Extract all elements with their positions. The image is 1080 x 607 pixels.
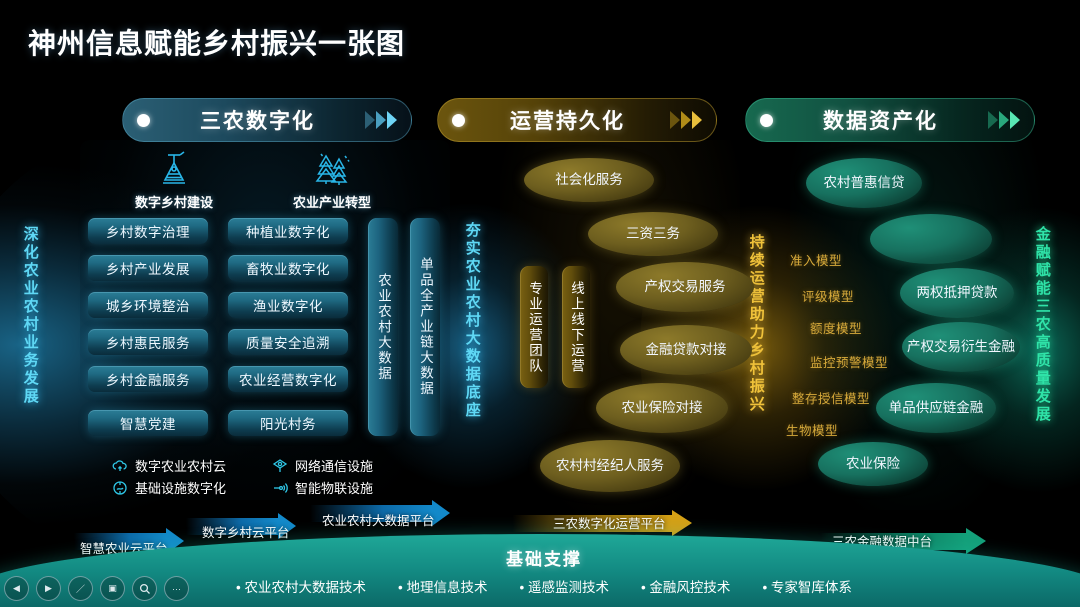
infra-label: 网络通信设施	[295, 456, 373, 475]
tag-planting-digital[interactable]: 种植业数字化	[228, 218, 348, 244]
infra-label: 数字农业农村云	[135, 456, 226, 475]
bullet-dot-icon	[137, 114, 150, 127]
bubble-rural-inclusive-credit[interactable]: 农村普惠信贷	[806, 158, 922, 208]
model-label-rating: 评级模型	[802, 286, 854, 305]
icon-group-industry-transform: 农业产业转型	[272, 148, 392, 211]
foundation-item: • 农业农村大数据技术	[236, 576, 366, 596]
infra-item-infrastructure-digital[interactable]: 基础设施数字化	[112, 478, 226, 497]
bubble-two-rights-mortgage[interactable]: 两权抵押贷款	[900, 268, 1014, 318]
icon-caption: 农业产业转型	[272, 192, 392, 211]
side-label-sustained-operation: 持续运营助力乡村振兴	[748, 234, 764, 414]
cloud-up-icon	[112, 458, 128, 474]
network-node-icon	[272, 458, 288, 474]
icon-group-digital-village: 数字乡村建设	[114, 148, 234, 211]
bubble-agri-insurance-matching[interactable]: 农业保险对接	[596, 383, 728, 433]
bubble-socialized-service[interactable]: 社会化服务	[524, 158, 654, 202]
presentation-toolbar[interactable]: ◀ ▶ ／ ▣ ···	[4, 576, 189, 601]
platform-arrow-label: 数字乡村云平台	[202, 522, 290, 541]
model-label-admission: 准入模型	[790, 250, 842, 269]
infra-item-smart-iot[interactable]: 智能物联设施	[272, 478, 373, 497]
tag-quality-traceability[interactable]: 质量安全追溯	[228, 329, 348, 355]
next-icon[interactable]: ▶	[36, 576, 61, 601]
bullet-dot-icon	[452, 114, 465, 127]
chevrons-right-icon	[365, 111, 397, 129]
chevrons-right-icon	[988, 111, 1020, 129]
header-pill-operation-sustain[interactable]: 运营持久化	[437, 98, 717, 142]
header-pill-san-nong-digital[interactable]: 三农数字化	[122, 98, 412, 142]
vcard-professional-operation-team[interactable]: 专业运营团队	[520, 266, 548, 388]
forest-trees-icon	[272, 148, 392, 188]
tag-rural-benefit-services[interactable]: 乡村惠民服务	[88, 329, 208, 355]
prev-icon[interactable]: ◀	[4, 576, 29, 601]
tag-smart-party-building[interactable]: 智慧党建	[88, 410, 208, 436]
page-title: 神州信息赋能乡村振兴一张图	[28, 22, 405, 62]
infra-label: 基础设施数字化	[135, 478, 226, 497]
more-icon[interactable]: ···	[164, 576, 189, 601]
model-label-credit-grant: 整存授信模型	[792, 388, 870, 407]
side-label-bigdata-base: 夯实农业农村大数据底座	[464, 222, 480, 420]
model-label-biological: 生物模型	[786, 420, 838, 439]
icon-caption: 数字乡村建设	[114, 192, 234, 211]
platform-arrow-label: 农业农村大数据平台	[322, 510, 435, 529]
model-label-credit-limit: 额度模型	[810, 318, 862, 337]
header-pill-data-asset[interactable]: 数据资产化	[745, 98, 1035, 142]
slide-canvas: 神州信息赋能乡村振兴一张图 三农数字化 运营持久化 数据资产化 深化农业农村业务…	[0, 0, 1080, 607]
foundation-items: • 农业农村大数据技术 • 地理信息技术 • 遥感监测技术 • 金融风控技术 •…	[236, 576, 852, 596]
search-icon[interactable]	[132, 576, 157, 601]
foundation-item: • 专家智库体系	[762, 576, 851, 596]
bubble-three-funds-three-affairs[interactable]: 三资三务	[588, 212, 718, 256]
layout-icon[interactable]: ▣	[100, 576, 125, 601]
circuit-circle-icon	[112, 480, 128, 496]
infra-item-digital-agri-cloud[interactable]: 数字农业农村云	[112, 456, 226, 475]
foundation-item: • 金融风控技术	[641, 576, 730, 596]
tag-livestock-digital[interactable]: 畜牧业数字化	[228, 255, 348, 281]
vcard-agri-rural-bigdata[interactable]: 农业农村大数据	[368, 218, 398, 436]
infra-label: 智能物联设施	[295, 478, 373, 497]
bubble-single-product-supply-chain-finance[interactable]: 单品供应链金融	[876, 383, 996, 433]
tag-fishery-digital[interactable]: 渔业数字化	[228, 292, 348, 318]
vcard-online-offline-operation[interactable]: 线上线下运营	[562, 266, 590, 388]
platform-arrow-label: 三农数字化运营平台	[553, 513, 666, 532]
tag-rural-digital-governance[interactable]: 乡村数字治理	[88, 218, 208, 244]
tag-urban-rural-environment[interactable]: 城乡环境整治	[88, 292, 208, 318]
iot-signal-icon	[272, 480, 288, 496]
bubble-agri-insurance[interactable]: 农业保险	[818, 442, 928, 486]
tag-agri-operation-digital[interactable]: 农业经营数字化	[228, 366, 348, 392]
vcard-single-product-chain-bigdata[interactable]: 单品全产业链大数据	[410, 218, 440, 436]
side-label-deepen-agri: 深化农业农村业务发展	[22, 226, 38, 406]
bubble-property-derivative-finance[interactable]: 产权交易衍生金融	[902, 322, 1020, 372]
header-label: 数据资产化	[773, 105, 988, 135]
foundation-item: • 遥感监测技术	[519, 576, 608, 596]
bullet-dot-icon	[760, 114, 773, 127]
chevrons-right-icon	[670, 111, 702, 129]
bubble-financial-loan-matching[interactable]: 金融贷款对接	[620, 325, 752, 375]
tag-rural-finance-services[interactable]: 乡村金融服务	[88, 366, 208, 392]
village-tower-icon	[114, 148, 234, 188]
tag-rural-industry-dev[interactable]: 乡村产业发展	[88, 255, 208, 281]
model-label-monitor-warning: 监控预警模型	[810, 352, 888, 371]
bubble-property-rights-trade-service[interactable]: 产权交易服务	[616, 262, 754, 312]
infra-item-network-comm[interactable]: 网络通信设施	[272, 456, 373, 475]
bubble-bio-asset-mortgage[interactable]	[870, 214, 992, 264]
pen-icon[interactable]: ／	[68, 576, 93, 601]
tag-sunshine-village-affairs[interactable]: 阳光村务	[228, 410, 348, 436]
bubble-rural-broker-service[interactable]: 农村村经纪人服务	[540, 440, 680, 492]
foundation-title: 基础支撑	[506, 545, 582, 570]
foundation-item: • 地理信息技术	[398, 576, 487, 596]
header-label: 运营持久化	[465, 105, 670, 135]
header-label: 三农数字化	[150, 105, 365, 135]
side-label-finance-empower: 金融赋能三农高质量发展	[1034, 226, 1050, 424]
